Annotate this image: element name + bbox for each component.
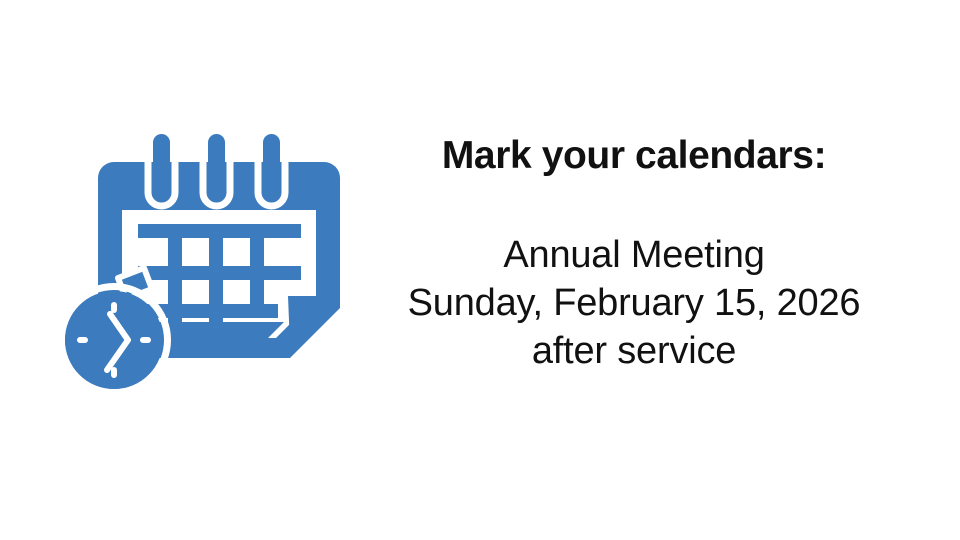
event-time-line: after service <box>354 327 914 375</box>
page-title: Mark your calendars: <box>354 132 914 180</box>
event-title-line: Annual Meeting <box>354 231 914 279</box>
announcement-slide: Mark your calendars: Annual Meeting Sund… <box>0 0 960 540</box>
event-date-line: Sunday, February 15, 2026 <box>354 279 914 327</box>
event-details: Annual Meeting Sunday, February 15, 2026… <box>354 231 914 375</box>
calendar-with-clock-icon <box>52 126 352 398</box>
announcement-text-block: Mark your calendars: Annual Meeting Sund… <box>354 132 914 404</box>
folded-corner-icon <box>288 296 340 346</box>
